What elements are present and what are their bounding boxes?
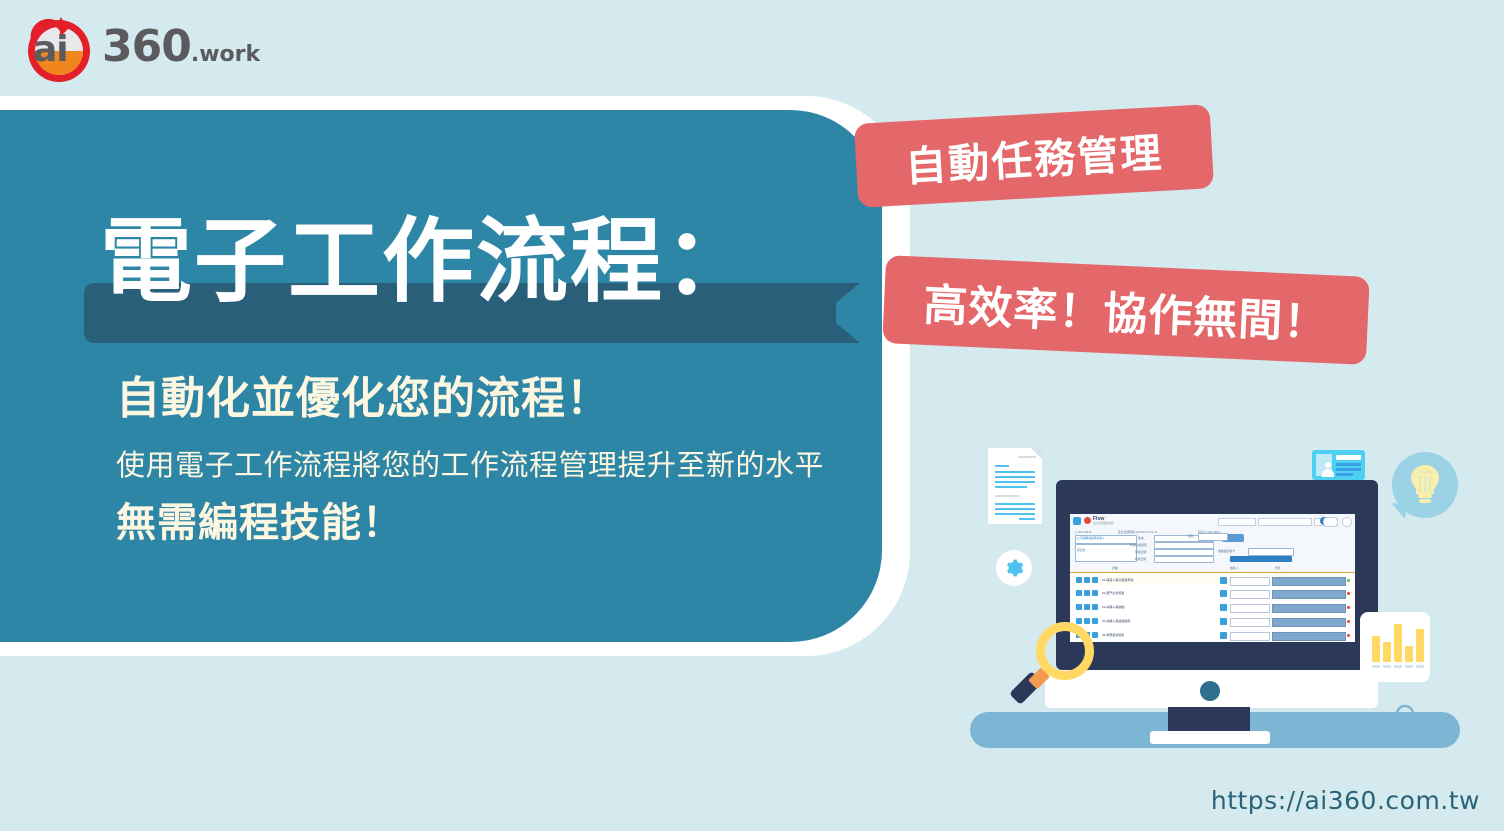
- form-estimate-input[interactable]: [1154, 549, 1214, 556]
- table-row-label: 03-採購人員詢價: [1102, 604, 1124, 610]
- form-approve-input[interactable]: [1154, 556, 1214, 563]
- app-header: Flow 電子表單簽核系統: [1070, 514, 1355, 529]
- id-card-avatar: [1316, 454, 1332, 476]
- table-row[interactable]: 03-採購人員詢價: [1070, 600, 1355, 615]
- form-region: ◻ WK-00215 建立日期時間 2023/04/10 14:41 填表人 C…: [1070, 528, 1355, 565]
- toolbar-gear-icon[interactable]: [1342, 517, 1352, 527]
- hero-subtitle-body: 使用電子工作流程將您的工作流程管理提升至新的水平: [116, 445, 824, 485]
- gear-glyph: [1004, 558, 1024, 578]
- monitor-screen: Flow 電子表單簽核系統 ◻ WK-00215 建立日期時間 2023/04/…: [1070, 514, 1355, 642]
- banner-canvas: ai 360.work 電子工作流程： 自動化並優化您的流程！ 使用電子工作流程…: [0, 0, 1504, 831]
- lightbulb-bubble-icon: [1392, 452, 1458, 518]
- badge-auto-task-management: 自動任務管理: [854, 104, 1214, 208]
- badge-efficiency-collaboration: 高效率！協作無間！: [882, 255, 1369, 365]
- page-title: 電子工作流程：: [100, 212, 920, 312]
- app-menu-icon[interactable]: [1073, 517, 1081, 525]
- document-icon: [988, 448, 1042, 524]
- form-approver-input[interactable]: [1248, 548, 1294, 556]
- logo-wordmark: 360.work: [102, 22, 260, 80]
- hero-subtitle-bold: 自動化並優化您的流程！: [116, 372, 611, 426]
- logo-360: 360: [102, 21, 191, 72]
- toolbar-reset-button[interactable]: [1323, 517, 1338, 527]
- app-tagline: 電子表單簽核系統: [1093, 522, 1114, 526]
- bar-chart-icon: [1360, 612, 1430, 682]
- brand-logo[interactable]: ai 360.work: [22, 12, 302, 90]
- table-row[interactable]: 04-採購人員議價簽核: [1070, 614, 1355, 629]
- toolbar-field-2[interactable]: [1258, 518, 1312, 526]
- logo-ai-text: ai: [33, 30, 89, 70]
- gear-icon: [996, 550, 1032, 586]
- search-icon: [1392, 702, 1422, 732]
- form-category-select[interactable]: [1198, 533, 1228, 541]
- table-row-label: 04-採購人員議價簽核: [1102, 618, 1130, 624]
- magnifier-ring: [1036, 622, 1094, 680]
- toolbar-field-1[interactable]: [1218, 518, 1256, 526]
- monitor-stand-foot: [1150, 731, 1270, 744]
- id-card-icon: [1312, 450, 1365, 480]
- illustration: Flow 電子表單簽核系統 ◻ WK-00215 建立日期時間 2023/04/…: [960, 430, 1460, 760]
- form-deadline-input[interactable]: [1154, 542, 1214, 549]
- lightbulb-glyph: [1392, 452, 1458, 518]
- logo-mark-icon: ai: [22, 14, 96, 88]
- logo-tld: .work: [191, 42, 260, 67]
- magnifier-icon: [1008, 622, 1098, 712]
- website-url[interactable]: https://ai360.com.tw: [1211, 786, 1480, 815]
- table-row[interactable]: 02-部門主管核簽: [1070, 586, 1355, 601]
- table-row-label: 01-填寫人員及需單申請: [1102, 577, 1133, 583]
- form-dept-box[interactable]: [1075, 544, 1137, 562]
- hero-subtitle-bold-2: 無需編程技能！: [116, 497, 403, 549]
- table-row-label: 02-部門主管核簽: [1102, 590, 1124, 596]
- app-logo-icon: [1084, 517, 1091, 524]
- table-row[interactable]: 05-財務單據核對: [1070, 628, 1355, 642]
- table-row-label: 05-財務單據核對: [1102, 632, 1124, 638]
- monitor-power-dot: [1200, 681, 1220, 701]
- form-action-button[interactable]: [1230, 556, 1292, 562]
